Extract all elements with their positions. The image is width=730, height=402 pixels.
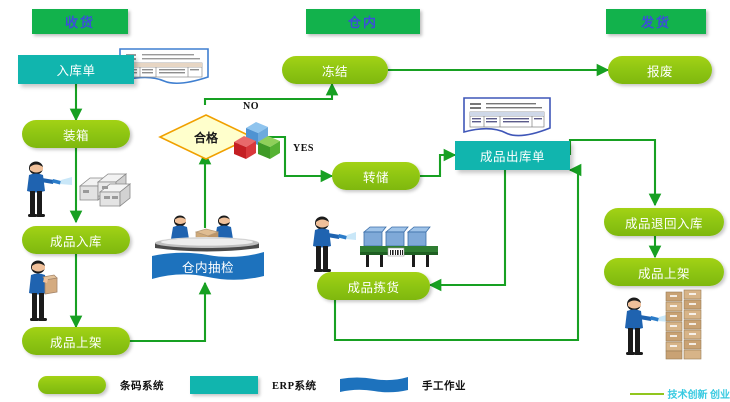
worker-scanner-icon xyxy=(22,160,72,218)
node-transfer[interactable]: 转储 xyxy=(332,162,420,190)
legend-swatch-erp-icon xyxy=(190,376,258,394)
node-packing[interactable]: 装箱 xyxy=(22,120,130,148)
edge-label-no: NO xyxy=(243,101,259,112)
node-inbound-order[interactable]: 入库单 xyxy=(18,55,134,84)
node-fg-outbound-order[interactable]: 成品出库单 xyxy=(455,141,570,170)
node-label-packing: 装箱 xyxy=(63,125,89,144)
pallet-stack-icon xyxy=(664,288,704,360)
phase-label-shipping: 发货 xyxy=(641,12,671,31)
edge-label-yes: YES xyxy=(293,143,314,154)
node-label-fg-putaway-left: 成品上架 xyxy=(50,332,102,351)
legend-label-erp: ERP系统 xyxy=(272,378,317,393)
edge-putaway-to-spotcheck xyxy=(124,283,205,341)
outbound-order-document-icon xyxy=(462,96,552,142)
phase-banner-in-warehouse: 仓内 xyxy=(306,9,420,34)
edge-outboundorder-to-return xyxy=(570,140,655,205)
phase-label-in-warehouse: 仓内 xyxy=(348,12,378,31)
phase-banner-receiving: 收货 xyxy=(32,9,128,34)
node-label-transfer: 转储 xyxy=(363,167,389,186)
node-fg-inbound[interactable]: 成品入库 xyxy=(22,226,130,254)
node-qc-decision[interactable]: 合格 xyxy=(158,113,254,161)
phase-label-receiving: 收货 xyxy=(65,12,95,31)
worker-carrying-box-icon xyxy=(24,258,68,324)
node-label-fg-picking: 成品拣货 xyxy=(347,277,399,296)
legend: 条码系统 ERP系统 手工作业 xyxy=(0,368,730,402)
node-fg-putaway-left[interactable]: 成品上架 xyxy=(22,327,130,355)
phase-banner-shipping: 发货 xyxy=(606,9,706,34)
node-scrap[interactable]: 报废 xyxy=(608,56,712,84)
conveyor-with-totes-icon xyxy=(360,222,438,270)
legend-swatch-manual-icon xyxy=(340,376,408,394)
node-label-freeze: 冻结 xyxy=(322,61,348,80)
node-label-fg-return: 成品退回入库 xyxy=(625,213,703,232)
node-label-qc-decision: 合格 xyxy=(158,113,254,161)
watermark: 技术创新 创业 xyxy=(630,386,730,401)
worker-scanner-picking-icon xyxy=(308,215,356,273)
node-warehouse-spot-check[interactable]: 仓内抽检 xyxy=(152,250,264,283)
node-fg-return[interactable]: 成品退回入库 xyxy=(604,208,724,236)
edge-decision-no-to-freeze xyxy=(205,84,332,105)
node-label-warehouse-spot-check: 仓内抽检 xyxy=(182,257,234,276)
cartons-stack-icon xyxy=(78,168,140,208)
node-label-fg-putaway-right: 成品上架 xyxy=(638,263,690,282)
node-label-fg-outbound-order: 成品出库单 xyxy=(480,146,545,165)
legend-item-manual: 手工作业 xyxy=(340,376,466,394)
inspection-workbench-icon xyxy=(148,213,266,253)
legend-item-erp: ERP系统 xyxy=(190,376,317,394)
watermark-rule xyxy=(630,393,664,395)
node-label-inbound-order: 入库单 xyxy=(56,60,95,79)
node-label-scrap: 报废 xyxy=(647,61,673,80)
legend-item-barcode: 条码系统 xyxy=(38,376,164,394)
edge-outboundorder-to-picking xyxy=(430,170,505,285)
node-fg-putaway-right[interactable]: 成品上架 xyxy=(604,258,724,286)
edge-transfer-to-outboundorder xyxy=(420,155,455,176)
watermark-text: 技术创新 创业 xyxy=(668,386,730,401)
legend-swatch-barcode-icon xyxy=(38,376,106,394)
legend-label-barcode: 条码系统 xyxy=(120,378,164,393)
node-freeze[interactable]: 冻结 xyxy=(282,56,388,84)
node-label-fg-inbound: 成品入库 xyxy=(50,231,102,250)
node-fg-picking[interactable]: 成品拣货 xyxy=(317,272,430,300)
flowchart-canvas: 收货 仓内 发货 入库单 xyxy=(0,0,730,402)
legend-label-manual: 手工作业 xyxy=(422,378,466,393)
worker-scanner-rack-icon xyxy=(620,296,670,358)
